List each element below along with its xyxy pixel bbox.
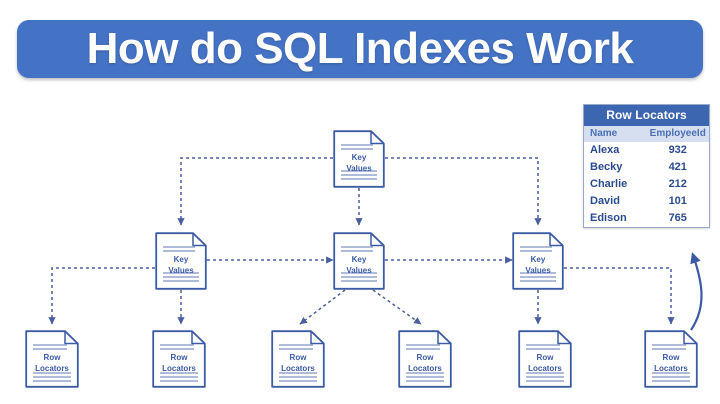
node-leaf-6-row-locators[interactable]: Row Locators (644, 330, 698, 388)
node-leaf-2-row-locators[interactable]: Row Locators (152, 330, 206, 388)
node-leaf-1-row-locators[interactable]: Row Locators (25, 330, 79, 388)
cell-employeeid: 932 (647, 144, 710, 156)
row-locators-table: Row Locators Name EmployeeId Alexa 932 B… (583, 104, 710, 228)
node-leaf-3-row-locators[interactable]: Row Locators (271, 330, 325, 388)
node-mid-left-key-values[interactable]: Key Values (155, 232, 207, 290)
cell-employeeid: 765 (647, 212, 710, 224)
table-row[interactable]: Edison 765 (584, 210, 709, 227)
column-header-employeeid: EmployeeId (647, 128, 710, 139)
table-row[interactable]: Alexa 932 (584, 142, 709, 159)
cell-name: Alexa (584, 144, 647, 156)
leaf6-to-table-arrow (691, 258, 702, 330)
edge-midright-to-leaf6 (564, 268, 671, 324)
cell-name: David (584, 195, 647, 207)
cell-name: Edison (584, 212, 647, 224)
column-header-name: Name (584, 128, 647, 139)
edge-midleft-to-leaf1 (52, 268, 155, 324)
cell-name: Becky (584, 161, 647, 173)
table-title: Row Locators (584, 105, 709, 126)
table-row[interactable]: David 101 (584, 193, 709, 210)
edge-root-to-mid-right (385, 158, 538, 225)
edge-midcenter-to-leaf4 (373, 290, 421, 324)
node-mid-right-key-values[interactable]: Key Values (512, 232, 564, 290)
node-leaf-4-row-locators[interactable]: Row Locators (398, 330, 452, 388)
diagram-canvas: How do SQL Indexes Work (0, 0, 720, 404)
cell-name: Charlie (584, 178, 647, 190)
table-column-headers: Name EmployeeId (584, 126, 709, 142)
edge-root-to-mid-left (181, 158, 333, 225)
node-root-key-values[interactable]: Key Values (333, 130, 385, 188)
table-row[interactable]: Charlie 212 (584, 176, 709, 193)
node-leaf-5-row-locators[interactable]: Row Locators (518, 330, 572, 388)
node-mid-center-key-values[interactable]: Key Values (333, 232, 385, 290)
cell-employeeid: 101 (647, 195, 710, 207)
cell-employeeid: 212 (647, 178, 710, 190)
table-row[interactable]: Becky 421 (584, 159, 709, 176)
edge-midcenter-to-leaf3 (300, 290, 345, 324)
cell-employeeid: 421 (647, 161, 710, 173)
